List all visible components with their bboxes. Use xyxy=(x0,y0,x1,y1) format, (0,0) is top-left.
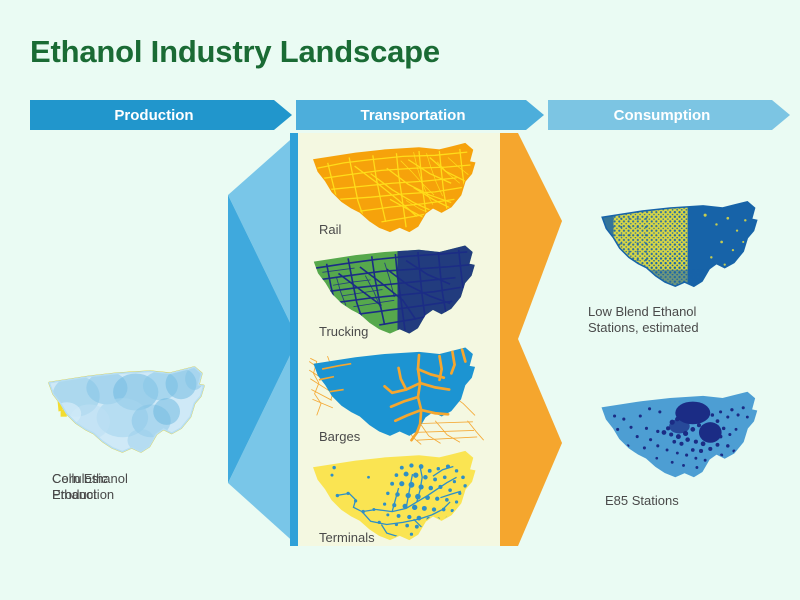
infographic-canvas: Ethanol Industry Landscape Production Tr… xyxy=(0,0,800,600)
arrow-transportation-to-consumption xyxy=(500,133,570,546)
stage-banner-production[interactable]: Production xyxy=(30,100,292,130)
map-caption: Low Blend Ethanol Stations, estimated xyxy=(588,304,795,336)
stage-banner-production-label: Production xyxy=(114,107,193,124)
stage-banner-transportation-label: Transportation xyxy=(360,107,465,124)
map-caption: Terminals xyxy=(319,530,495,546)
page-title: Ethanol Industry Landscape xyxy=(30,34,440,70)
map-caption: E85 Stations xyxy=(605,493,795,509)
map-cell-low-blend-ethanol-stations[interactable]: Low Blend Ethanol Stations, estimated xyxy=(595,190,795,336)
map-caption: Rail xyxy=(319,222,495,238)
stage-banner-consumption-label: Consumption xyxy=(614,107,711,124)
map-cell-trucking[interactable]: Trucking xyxy=(305,238,495,340)
map-cell-rail[interactable]: Rail xyxy=(305,136,495,238)
map-caption: Barges xyxy=(319,429,495,445)
map-cell-terminals[interactable]: Terminals xyxy=(305,444,495,546)
map-caption: Trucking xyxy=(319,324,495,340)
map-caption: Cellulosic Ethanol xyxy=(52,471,240,503)
us-map-icon xyxy=(595,190,795,298)
map-cell-cellulosic-ethanol[interactable]: Cellulosic Ethanol xyxy=(40,355,240,503)
us-map-icon xyxy=(595,383,795,485)
map-cell-barges[interactable]: Barges xyxy=(305,340,495,445)
stage-banner-row: Production Transportation Consumption xyxy=(30,100,790,130)
us-map-icon xyxy=(40,355,240,465)
map-cell-e85-stations[interactable]: E85 Stations xyxy=(595,383,795,509)
stage-banner-consumption[interactable]: Consumption xyxy=(548,100,790,130)
stage-banner-transportation[interactable]: Transportation xyxy=(296,100,544,130)
